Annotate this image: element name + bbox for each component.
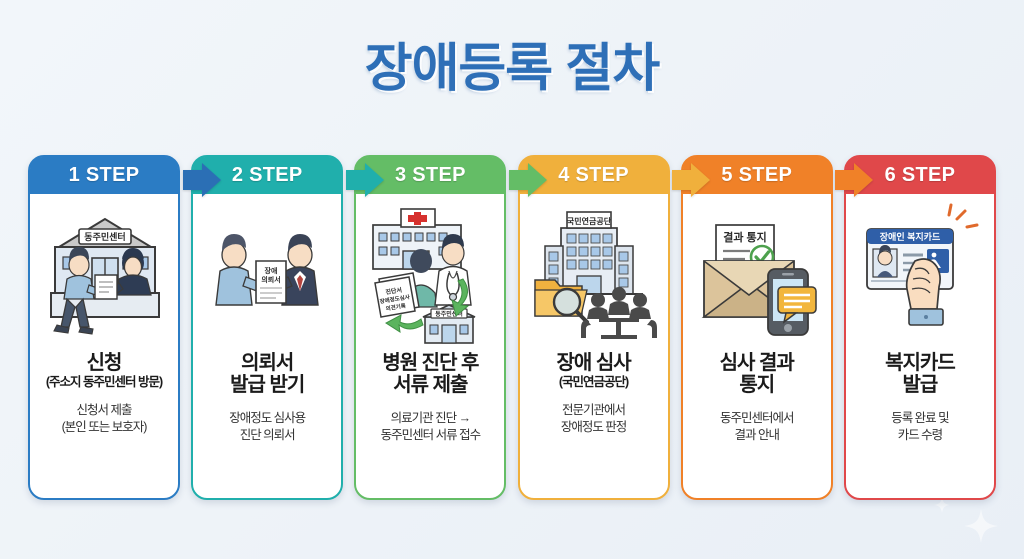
step-card-3[interactable]: 3 STEP [354,155,506,500]
step-card-4[interactable]: 4 STEP 국민연금공단 [518,155,670,500]
step-illustration-6: 장애인 복지카드 [846,194,994,348]
svg-text:국민연금공단: 국민연금공단 [566,216,611,226]
step-text-6: 복지카드 발급 등록 완료 및 카드 수령 [846,348,994,498]
step-illustration-2: 장애 의뢰서 [193,194,341,348]
step-card-2[interactable]: 2 STEP 장애 의뢰서 [191,155,343,500]
arrow-step2-to-step3 [346,163,384,197]
step-description-5: 동주민센터에서 결과 안내 [720,410,794,444]
step-text-2: 의뢰서 발급 받기 장애정도 심사용 진단 의뢰서 [193,348,341,498]
step-title-4: 장애 심사 [556,352,630,374]
step-title-5: 심사 결과 통지 [720,352,794,397]
step-description-1: 신청서 제출 (본인 또는 보호자) [62,402,147,436]
arrow-step1-to-step2 [183,163,221,197]
hospital-doctor-documents-icon: 진단서 장애정도심사 의견기록 동주민센터 [363,201,497,346]
step-text-5: 심사 결과 통지 동주민센터에서 결과 안내 [683,348,831,498]
step-text-4: 장애 심사 (국민연금공단) 전문기관에서 장애정도 판정 [520,348,668,498]
welfare-card-hand-icon: 장애인 복지카드 [853,203,987,343]
arrow-step5-to-step6 [835,163,873,197]
page-title: 장애등록 절차 [0,26,1024,101]
step-illustration-4: 국민연금공단 [520,194,668,348]
step-illustration-1: 동주민센터 [30,194,178,348]
arrow-step3-to-step4 [509,163,547,197]
step-description-4: 전문기관에서 장애정도 판정 [561,402,626,436]
step-text-3: 병원 진단 후 서류 제출 의료기관 진단 → 동주민센터 서류 접수 [356,348,504,498]
step-description-6: 등록 완료 및 카드 수령 [891,410,948,444]
community-center-counter-icon: 동주민센터 [37,203,171,343]
step-title-2: 의뢰서 발급 받기 [230,352,304,397]
step-card-6[interactable]: 6 STEP 장애인 복지카드 [844,155,996,500]
document-handover-icon: 장애 의뢰서 [200,203,334,343]
pension-service-review-icon: 국민연금공단 [527,202,661,344]
step-description-2: 장애정도 심사용 진단 의뢰서 [229,410,305,444]
svg-text:결과 통지: 결과 통지 [723,230,767,244]
svg-text:장애: 장애 [265,266,278,275]
step-description-3: 의료기관 진단 → 동주민센터 서류 접수 [381,410,480,444]
step-card-1[interactable]: 1 STEP 동주민센터 [28,155,180,500]
step-text-1: 신청 (주소지 동주민센터 방문) 신청서 제출 (본인 또는 보호자) [30,348,178,498]
mail-notification-phone-icon: 결과 통지 [690,203,824,343]
step-card-5[interactable]: 5 STEP 결과 통지 [681,155,833,500]
step-subtitle-4: (국민연금공단) [559,375,628,390]
step-illustration-3: 진단서 장애정도심사 의견기록 동주민센터 [356,194,504,348]
arrow-step4-to-step5 [672,163,710,197]
step-subtitle-1: (주소지 동주민센터 방문) [46,375,162,390]
svg-text:의뢰서: 의뢰서 [262,275,281,284]
svg-text:장애인 복지카드: 장애인 복지카드 [880,231,941,242]
step-illustration-5: 결과 통지 [683,194,831,348]
steps-container: 1 STEP 동주민센터 [28,155,996,500]
step-title-1: 신청 [87,352,122,374]
step-title-6: 복지카드 발급 [885,352,955,397]
step-title-3: 병원 진단 후 서류 제출 [382,352,478,397]
sparkle-decoration-icon [964,509,998,543]
step-badge-1: 1 STEP [30,157,178,194]
svg-text:동주민센터: 동주민센터 [84,231,125,242]
